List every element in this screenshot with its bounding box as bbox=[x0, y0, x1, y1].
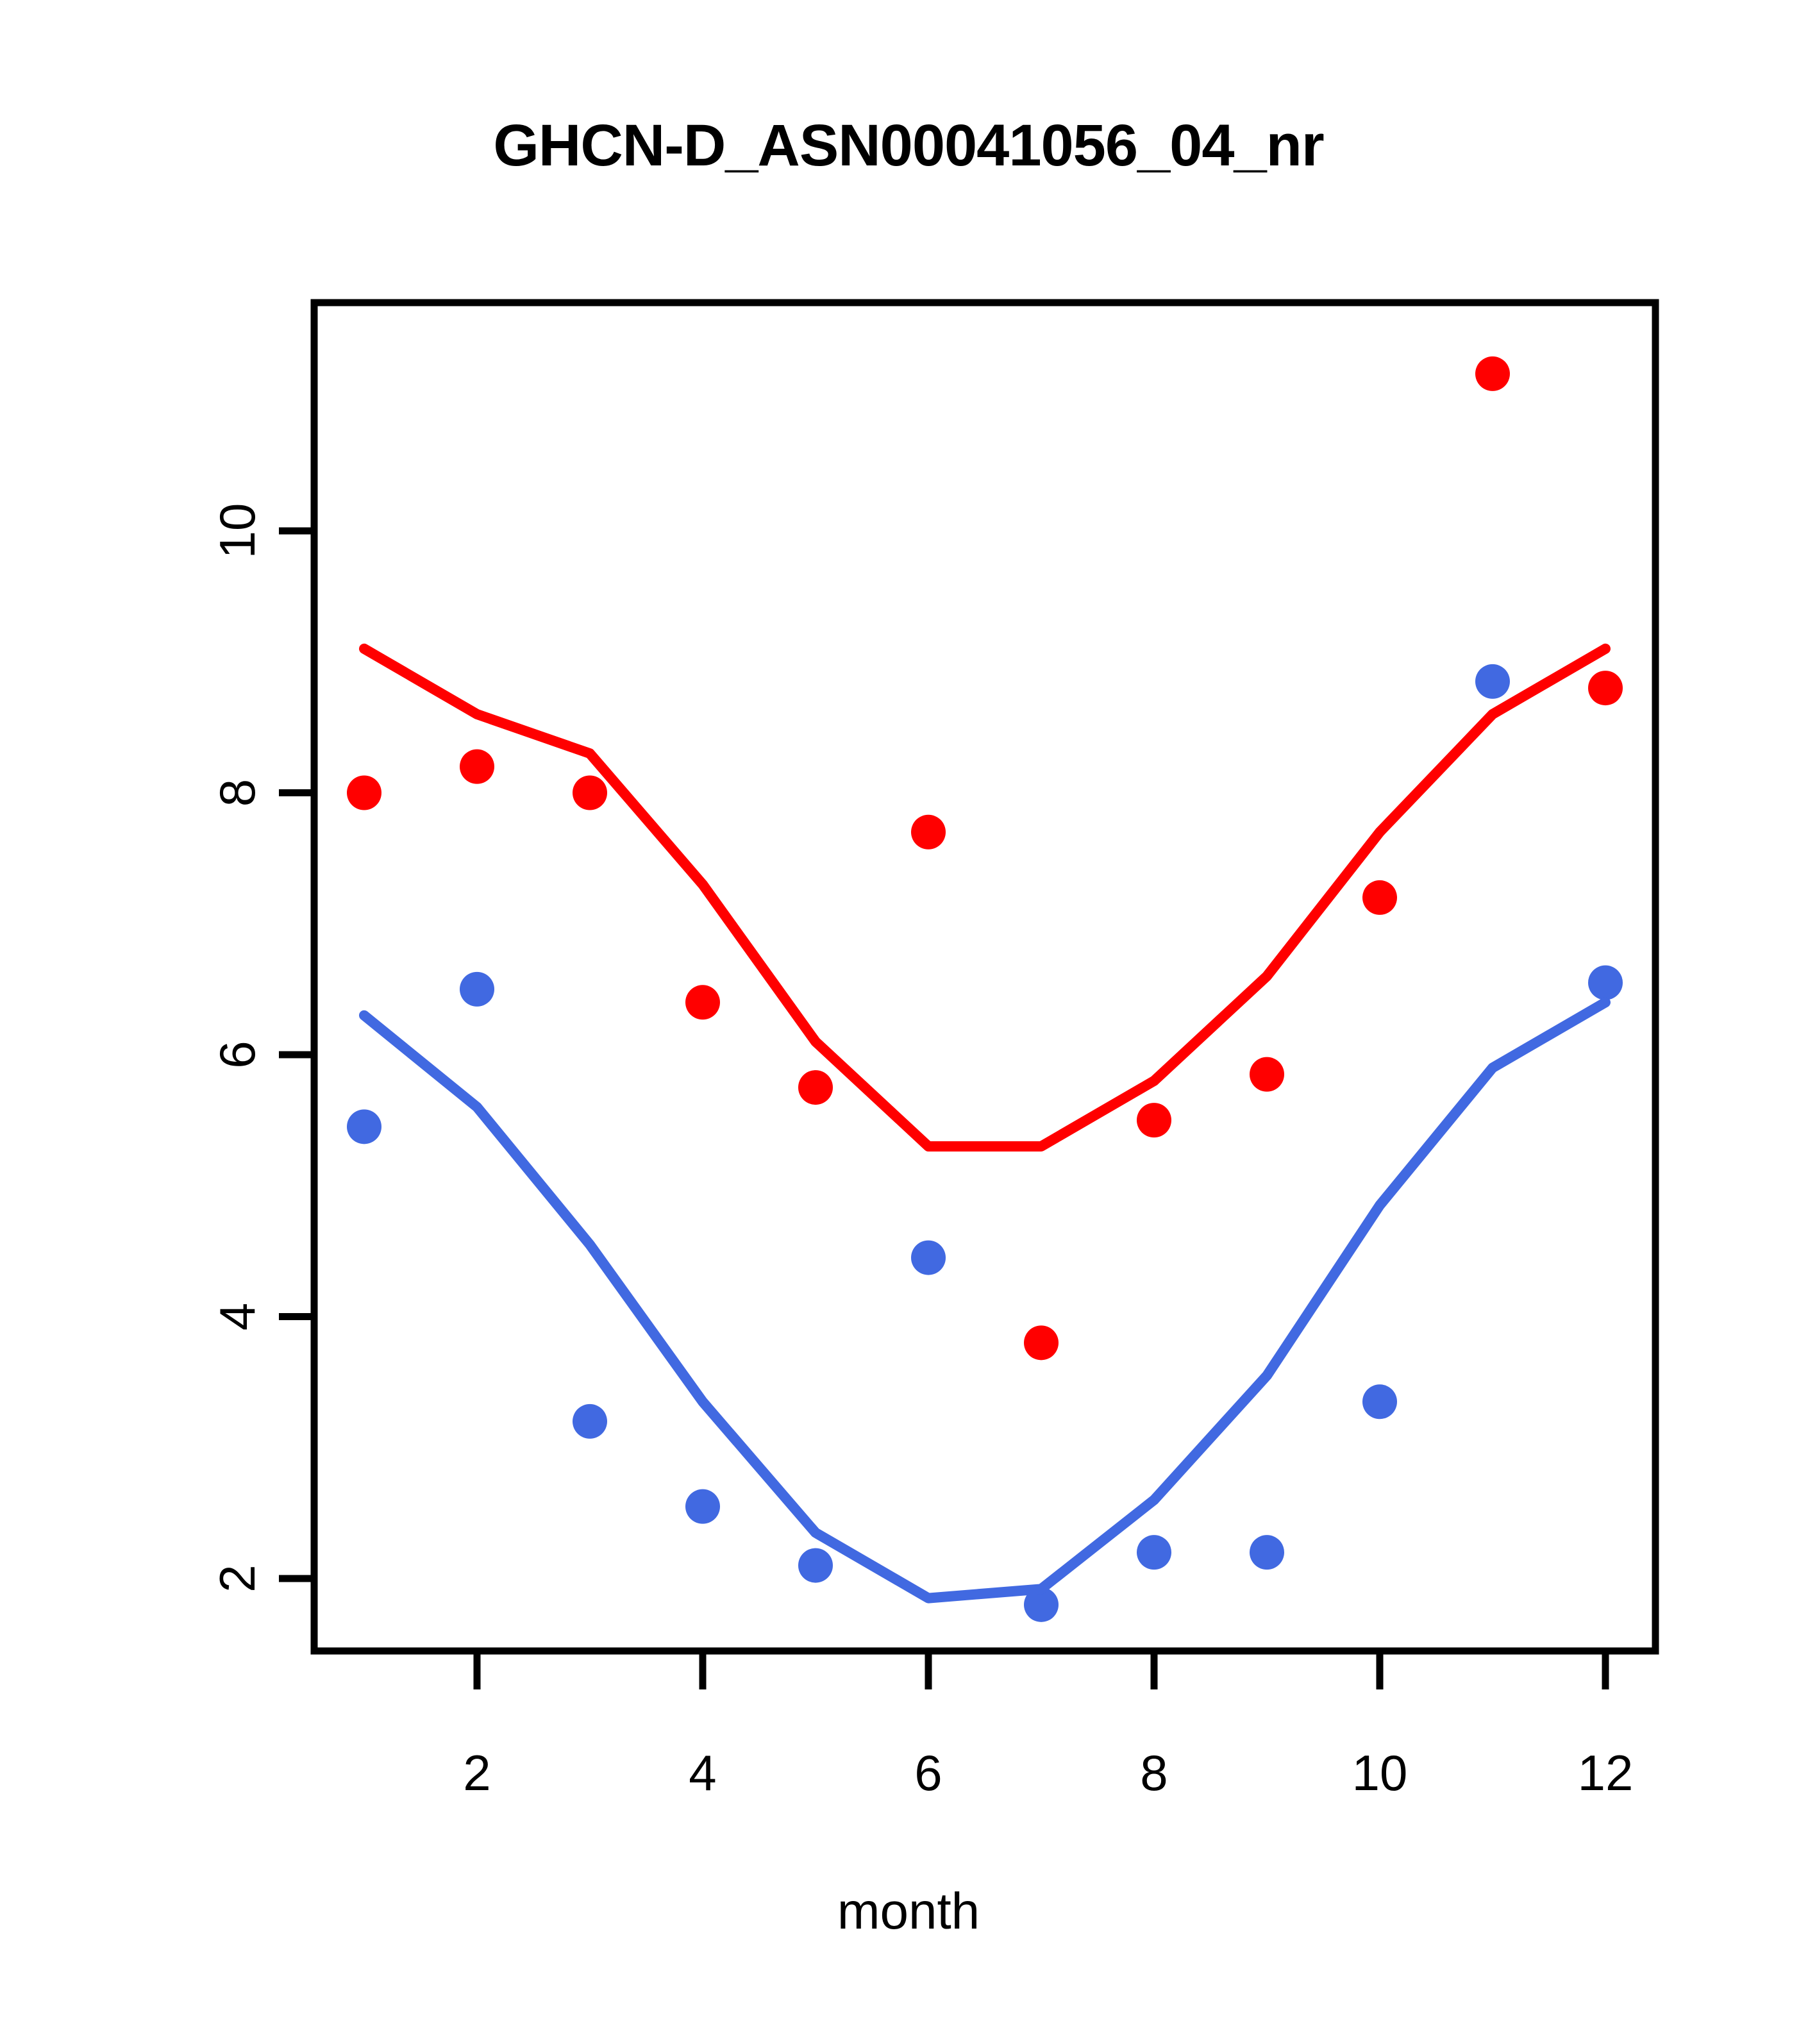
data-point-red-points bbox=[347, 776, 381, 810]
data-point-blue-points bbox=[798, 1548, 833, 1583]
y-tick-label: 2 bbox=[209, 1564, 265, 1592]
data-point-red-points bbox=[460, 750, 494, 784]
data-point-blue-points bbox=[347, 1109, 381, 1144]
y-tick-label: 4 bbox=[209, 1303, 265, 1330]
x-axis-title: month bbox=[0, 1882, 1817, 1941]
y-tick-label: 10 bbox=[209, 503, 265, 559]
plot-frame bbox=[314, 303, 1655, 1651]
y-tick-label: 8 bbox=[209, 779, 265, 807]
data-point-red-points bbox=[1475, 356, 1510, 391]
x-tick-label: 12 bbox=[1578, 1745, 1634, 1801]
data-point-blue-points bbox=[1250, 1535, 1284, 1570]
data-point-blue-points bbox=[460, 972, 494, 1007]
x-tick-label: 8 bbox=[1140, 1745, 1168, 1801]
data-point-blue-points bbox=[1475, 664, 1510, 699]
x-axis: 24681012 bbox=[463, 1651, 1633, 1801]
y-tick-label: 6 bbox=[209, 1041, 265, 1068]
data-point-red-points bbox=[573, 776, 607, 810]
data-point-blue-points bbox=[1588, 966, 1623, 1000]
data-point-red-points bbox=[1024, 1325, 1059, 1360]
data-point-blue-points bbox=[911, 1241, 946, 1275]
chart-canvas: 246810 24681012 bbox=[0, 0, 1817, 2044]
data-point-red-points bbox=[1250, 1057, 1284, 1092]
data-point-red-points bbox=[1137, 1103, 1171, 1137]
data-point-red-points bbox=[685, 985, 720, 1019]
data-point-blue-points bbox=[1362, 1384, 1397, 1419]
x-tick-label: 2 bbox=[463, 1745, 490, 1801]
data-point-blue-points bbox=[573, 1404, 607, 1439]
x-tick-label: 4 bbox=[689, 1745, 716, 1801]
chart-page: GHCN-D_ASN00041056_04_nr 246810 24681012… bbox=[0, 0, 1817, 2044]
data-point-blue-points bbox=[685, 1489, 720, 1524]
data-point-red-points bbox=[798, 1070, 833, 1105]
trend-line-blue-line bbox=[364, 1002, 1605, 1598]
y-axis: 246810 bbox=[209, 503, 314, 1593]
data-point-blue-points bbox=[1137, 1535, 1171, 1570]
x-tick-label: 10 bbox=[1352, 1745, 1408, 1801]
data-series bbox=[347, 356, 1623, 1622]
data-point-red-points bbox=[1588, 671, 1623, 705]
x-tick-label: 6 bbox=[914, 1745, 942, 1801]
data-point-red-points bbox=[911, 815, 946, 850]
data-point-red-points bbox=[1362, 880, 1397, 915]
trend-line-red-line bbox=[364, 649, 1605, 1146]
